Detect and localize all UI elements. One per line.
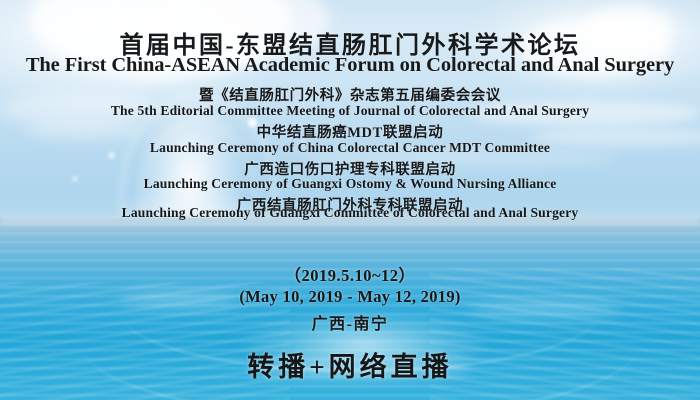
subtitle-2-english: Launching Ceremony of China Colorectal C… bbox=[0, 140, 700, 156]
event-date-chinese: （2019.5.10~12） bbox=[0, 262, 700, 286]
event-date-english: (May 10, 2019 - May 12, 2019) bbox=[0, 287, 700, 307]
event-location: 广西-南宁 bbox=[0, 310, 700, 334]
subtitle-4-english: Launching Ceremony of Guangxi Committee … bbox=[0, 205, 700, 221]
subtitle-3-english: Launching Ceremony of Guangxi Ostomy & W… bbox=[0, 176, 700, 192]
title-english: The First China-ASEAN Academic Forum on … bbox=[0, 54, 700, 77]
subtitle-1-english: The 5th Editorial Committee Meeting of J… bbox=[0, 103, 700, 119]
conference-banner: 首届中国-东盟结直肠肛门外科学术论坛 The First China-ASEAN… bbox=[0, 0, 700, 400]
banner-text-block: 首届中国-东盟结直肠肛门外科学术论坛 The First China-ASEAN… bbox=[0, 0, 700, 400]
broadcast-notice: 转播+网络直播 bbox=[0, 345, 700, 384]
subtitle-2-chinese: 中华结直肠癌MDT联盟启动 bbox=[0, 121, 700, 142]
subtitle-1-chinese: 暨《结直肠肛门外科》杂志第五届编委会会议 bbox=[0, 84, 700, 105]
